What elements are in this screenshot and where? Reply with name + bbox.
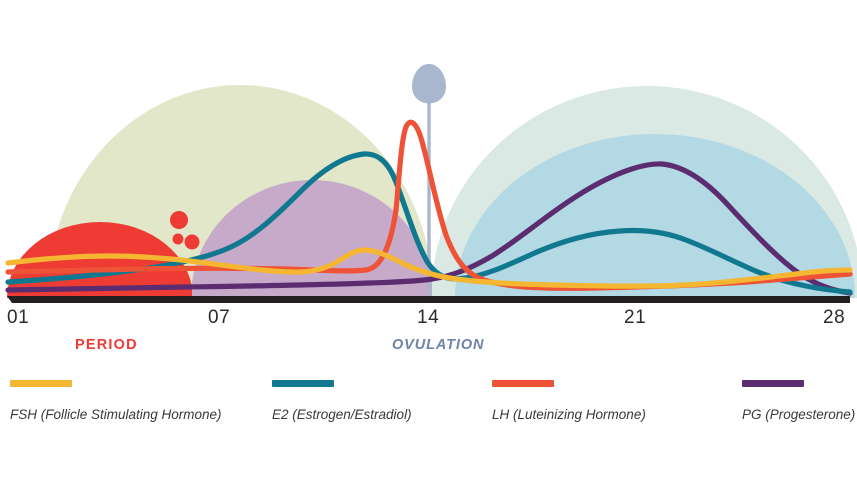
period-bubble-medium bbox=[185, 235, 200, 250]
x-tick-label-21: 21 bbox=[624, 308, 646, 327]
legend-swatch-fsh bbox=[10, 380, 72, 387]
legend: FSH (Follicle Stimulating Hormone) E2 (E… bbox=[0, 380, 857, 440]
x-tick-label-14: 14 bbox=[417, 308, 439, 327]
x-tick-label-07: 07 bbox=[208, 308, 230, 327]
legend-item-lh[interactable]: LH (Luteinizing Hormone) bbox=[492, 380, 646, 422]
legend-swatch-lh bbox=[492, 380, 554, 387]
axis-baseline bbox=[7, 296, 850, 303]
legend-swatch-e2 bbox=[272, 380, 334, 387]
ovum-egg-icon bbox=[412, 64, 446, 104]
legend-item-pg[interactable]: PG (Progesterone) bbox=[742, 380, 855, 422]
ovulation-label: OVULATION bbox=[392, 338, 484, 353]
legend-label-fsh: FSH (Follicle Stimulating Hormone) bbox=[10, 408, 222, 422]
x-tick-label-28: 28 bbox=[823, 308, 845, 327]
period-bubble-large bbox=[170, 211, 188, 229]
hormone-cycle-chart: 01 07 14 21 28 PERIOD OVULATION FSH (Fol… bbox=[0, 0, 857, 482]
legend-item-fsh[interactable]: FSH (Follicle Stimulating Hormone) bbox=[10, 380, 222, 422]
legend-label-pg: PG (Progesterone) bbox=[742, 408, 855, 422]
legend-label-e2: E2 (Estrogen/Estradiol) bbox=[272, 408, 412, 422]
x-tick-label-01: 01 bbox=[7, 308, 29, 327]
x-axis bbox=[7, 296, 850, 303]
period-label: PERIOD bbox=[75, 338, 138, 353]
legend-item-e2[interactable]: E2 (Estrogen/Estradiol) bbox=[272, 380, 412, 422]
legend-swatch-pg bbox=[742, 380, 804, 387]
period-bubble-small bbox=[173, 234, 184, 245]
legend-label-lh: LH (Luteinizing Hormone) bbox=[492, 408, 646, 422]
